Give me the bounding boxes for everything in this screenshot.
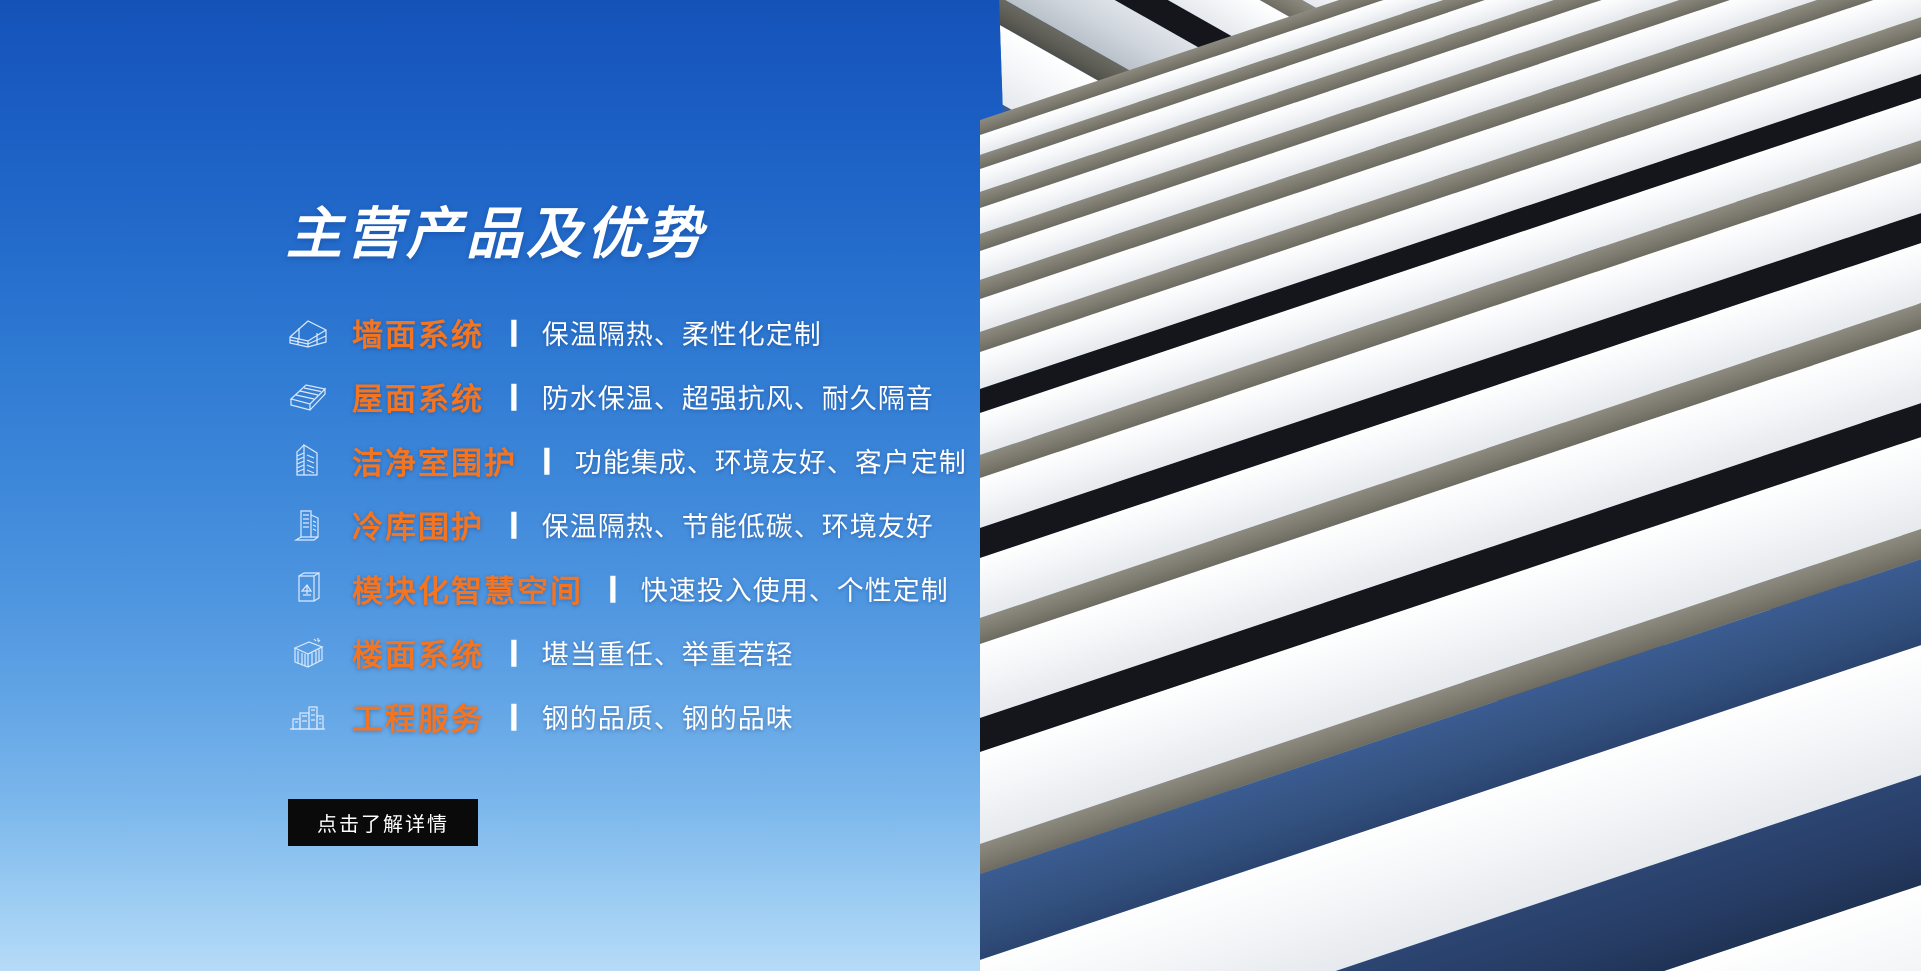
product-separator: ❙ [503, 700, 525, 731]
hero-content: 主营产品及优势 墙面系统 ❙ 保温隔热、柔性化定制 [0, 0, 1000, 971]
hero-banner: 主营产品及优势 墙面系统 ❙ 保温隔热、柔性化定制 [0, 0, 1921, 971]
product-name: 屋面系统 [352, 374, 484, 419]
product-separator: ❙ [503, 636, 525, 667]
product-desc: 堪当重任、举重若轻 [542, 633, 794, 672]
product-row-roof[interactable]: 屋面系统 ❙ 防水保温、超强抗风、耐久隔音 [286, 364, 1106, 428]
product-desc: 保温隔热、柔性化定制 [542, 313, 822, 352]
product-name: 墙面系统 [352, 310, 484, 355]
product-separator: ❙ [602, 572, 624, 603]
product-row-modular-space[interactable]: 模块化智慧空间 ❙ 快速投入使用、个性定制 [286, 556, 1106, 620]
product-row-cleanroom[interactable]: 洁净室围护 ❙ 功能集成、环境友好、客户定制 [286, 428, 1106, 492]
wall-panel-icon [286, 312, 330, 352]
product-separator: ❙ [536, 444, 558, 475]
building-face-right [980, 0, 1921, 971]
product-separator: ❙ [503, 316, 525, 347]
product-separator: ❙ [503, 380, 525, 411]
product-row-cold-storage[interactable]: 冷库围护 ❙ 保温隔热、节能低碳、环境友好 [286, 492, 1106, 556]
product-desc: 快速投入使用、个性定制 [641, 569, 949, 608]
product-name: 冷库围护 [352, 502, 484, 547]
learn-more-button[interactable]: 点击了解详情 [288, 799, 478, 846]
product-desc: 防水保温、超强抗风、耐久隔音 [542, 377, 934, 416]
product-row-engineering-service[interactable]: 工程服务 ❙ 钢的品质、钢的品味 [286, 684, 1106, 748]
cold-storage-icon [286, 504, 330, 544]
product-row-wall[interactable]: 墙面系统 ❙ 保温隔热、柔性化定制 [286, 300, 1106, 364]
product-list: 墙面系统 ❙ 保温隔热、柔性化定制 屋面系统 ❙ 防水保温、超强抗风、耐久隔音 [286, 300, 1106, 748]
cleanroom-icon [286, 440, 330, 480]
product-name: 洁净室围护 [352, 438, 517, 483]
product-row-floor-deck[interactable]: 楼面系统 ❙ 堪当重任、举重若轻 [286, 620, 1106, 684]
product-desc: 功能集成、环境友好、客户定制 [575, 441, 967, 480]
product-name: 楼面系统 [352, 630, 484, 675]
product-name: 模块化智慧空间 [352, 566, 583, 611]
product-separator: ❙ [503, 508, 525, 539]
product-desc: 保温隔热、节能低碳、环境友好 [542, 505, 934, 544]
product-name: 工程服务 [352, 694, 484, 739]
page-title: 主营产品及优势 [286, 206, 706, 262]
modular-space-icon [286, 568, 330, 608]
roof-panel-icon [286, 376, 330, 416]
engineering-service-icon [286, 696, 330, 736]
building-tower [980, 120, 1921, 971]
product-desc: 钢的品质、钢的品味 [542, 697, 794, 736]
floor-deck-icon [286, 632, 330, 672]
